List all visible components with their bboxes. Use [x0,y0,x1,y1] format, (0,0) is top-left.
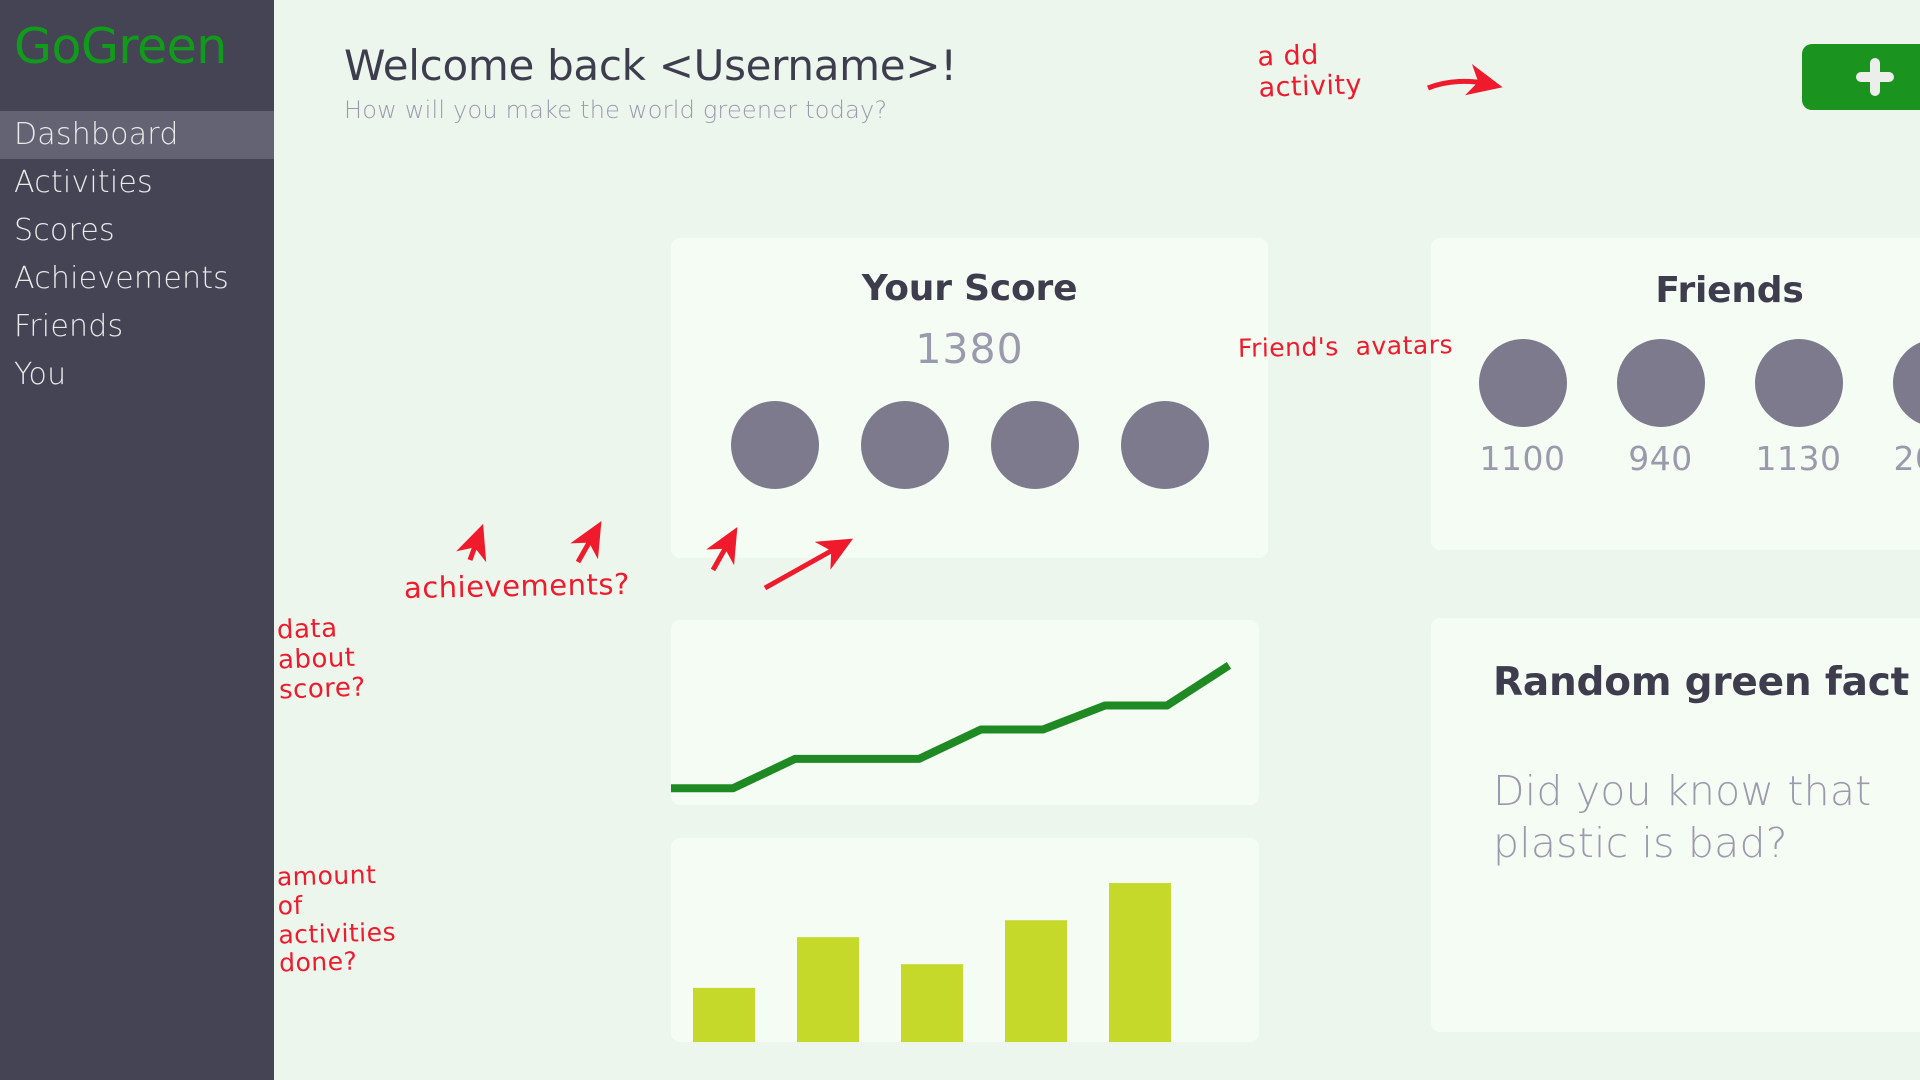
friend-score: 1100 [1479,439,1567,478]
avatar [1479,339,1567,427]
main-content: Welcome back <Username>! How will you ma… [274,0,1920,1080]
fact-card-body: Did you know that plastic is bad? [1431,705,1920,870]
add-activity-button[interactable] [1802,44,1920,110]
plus-icon [1852,54,1898,100]
sidebar-item-achievements[interactable]: Achievements [0,255,274,303]
score-line-chart-card[interactable] [671,620,1259,805]
achievement-badge[interactable] [861,401,949,489]
friend-score: 1130 [1755,439,1843,478]
page-subtitle: How will you make the world greener toda… [344,96,957,124]
random-green-fact-card: Random green fact Did you know that plas… [1431,618,1920,1032]
sidebar-nav: Dashboard Activities Scores Achievements… [0,111,274,399]
friends-card-title: Friends [1431,238,1920,311]
page-title: Welcome back <Username>! [344,44,957,88]
friend-item[interactable]: 940 [1617,339,1705,478]
activities-bar-chart [671,838,1259,1042]
friend-score: 2010 [1893,439,1920,478]
friend-item[interactable]: 1100 [1479,339,1567,478]
sidebar-item-friends[interactable]: Friends [0,303,274,351]
avatar [1755,339,1843,427]
score-card-title: Your Score [671,238,1268,309]
bar [797,937,859,1042]
avatar [1617,339,1705,427]
bar [1005,920,1067,1042]
sidebar-item-scores[interactable]: Scores [0,207,274,255]
bar [1109,883,1171,1042]
achievement-badge[interactable] [731,401,819,489]
sidebar-item-activities[interactable]: Activities [0,159,274,207]
page-header: Welcome back <Username>! How will you ma… [344,44,957,124]
achievement-badge[interactable] [1121,401,1209,489]
score-value: 1380 [671,325,1268,373]
friend-item[interactable]: 2010 [1893,339,1920,478]
score-card: Your Score 1380 [671,238,1268,558]
app-root: GoGreen Dashboard Activities Scores Achi… [0,0,1920,1080]
friends-card: Friends 1100 940 1130 2010 [1431,238,1920,550]
sidebar-item-you[interactable]: You [0,351,274,399]
achievement-badge[interactable] [991,401,1079,489]
fact-card-title: Random green fact [1431,618,1920,705]
avatar [1893,339,1920,427]
sidebar: GoGreen Dashboard Activities Scores Achi… [0,0,274,1080]
activities-bar-chart-card[interactable] [671,838,1259,1042]
achievement-badges [671,401,1268,489]
bar [693,988,755,1042]
friend-score: 940 [1617,439,1705,478]
friends-list: 1100 940 1130 2010 [1431,339,1920,478]
friend-item[interactable]: 1130 [1755,339,1843,478]
sidebar-item-dashboard[interactable]: Dashboard [0,111,274,159]
brand-logo-text[interactable]: GoGreen [0,0,274,71]
bar [901,964,963,1042]
score-line-chart [671,620,1259,805]
